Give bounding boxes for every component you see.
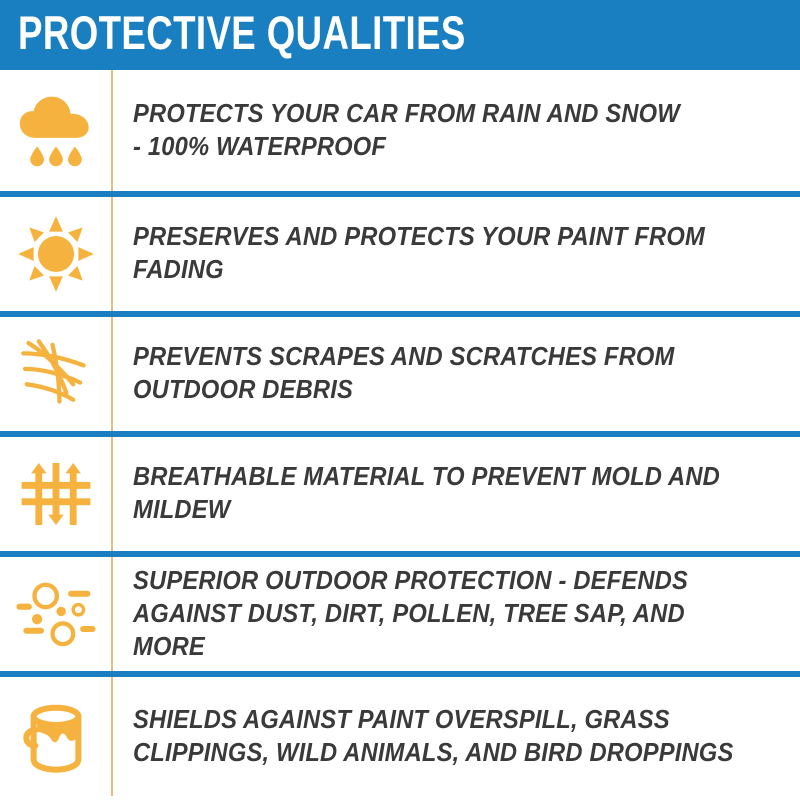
feature-text-scratches: PREVENTS SCRAPES AND SCRATCHES FROM OUTD… [111,341,800,407]
column-rule [111,317,113,431]
feature-text-waterproof: PROTECTS YOUR CAR FROM RAIN AND SNOW - 1… [111,98,800,164]
feature-text-uv-fading: PRESERVES AND PROTECTS YOUR PAINT FROM F… [111,221,800,287]
feature-text-dust-protection: SUPERIOR OUTDOOR PROTECTION - DEFENDS AG… [111,565,800,664]
feature-text-breathable: BREATHABLE MATERIAL TO PREVENT MOLD AND … [111,461,800,527]
feature-line: SHIELDS AGAINST PAINT OVERSPILL, GRASS [133,704,740,737]
feature-row-waterproof: PROTECTS YOUR CAR FROM RAIN AND SNOW - 1… [0,70,800,191]
paint-bucket-icon [0,677,111,796]
feature-row-uv-fading: PRESERVES AND PROTECTS YOUR PAINT FROM F… [0,197,800,311]
column-rule [111,557,113,671]
feature-list: PROTECTS YOUR CAR FROM RAIN AND SNOW - 1… [0,64,800,796]
column-rule [111,70,113,191]
dust-particles-icon [0,557,111,671]
feature-line: PRESERVES AND PROTECTS YOUR PAINT FROM [133,221,740,254]
column-rule [111,677,113,796]
feature-row-scratches: PREVENTS SCRAPES AND SCRATCHES FROM OUTD… [0,317,800,431]
column-rule [111,197,113,311]
feature-line: SUPERIOR OUTDOOR PROTECTION - DEFENDS [133,565,740,598]
feature-line: PREVENTS SCRAPES AND SCRATCHES FROM [133,341,740,374]
scratches-mesh-icon [0,317,111,431]
feature-line: PROTECTS YOUR CAR FROM RAIN AND SNOW [133,98,740,131]
feature-line: OUTDOOR DEBRIS [133,374,740,407]
feature-text-paint-overspill: SHIELDS AGAINST PAINT OVERSPILL, GRASS C… [111,704,800,770]
header-banner: PROTECTIVE QUALITIES [0,0,800,64]
feature-line: CLIPPINGS, WILD ANIMALS, AND BIRD DROPPI… [133,737,740,770]
feature-row-dust-protection: SUPERIOR OUTDOOR PROTECTION - DEFENDS AG… [0,557,800,671]
feature-line: AGAINST DUST, DIRT, POLLEN, TREE SAP, AN… [133,598,740,664]
feature-row-paint-overspill: SHIELDS AGAINST PAINT OVERSPILL, GRASS C… [0,677,800,796]
protective-qualities-infographic: PROTECTIVE QUALITIES PROTECTS YOUR CAR F… [0,0,800,800]
feature-line: BREATHABLE MATERIAL TO PREVENT MOLD AND [133,461,740,494]
feature-line: MILDEW [133,494,740,527]
feature-line: - 100% WATERPROOF [133,131,740,164]
column-rule [111,437,113,551]
rain-cloud-icon [0,70,111,191]
breathable-airflow-icon [0,437,111,551]
sun-icon [0,197,111,311]
page-title: PROTECTIVE QUALITIES [18,9,466,56]
feature-line: FADING [133,254,740,287]
feature-row-breathable: BREATHABLE MATERIAL TO PREVENT MOLD AND … [0,437,800,551]
